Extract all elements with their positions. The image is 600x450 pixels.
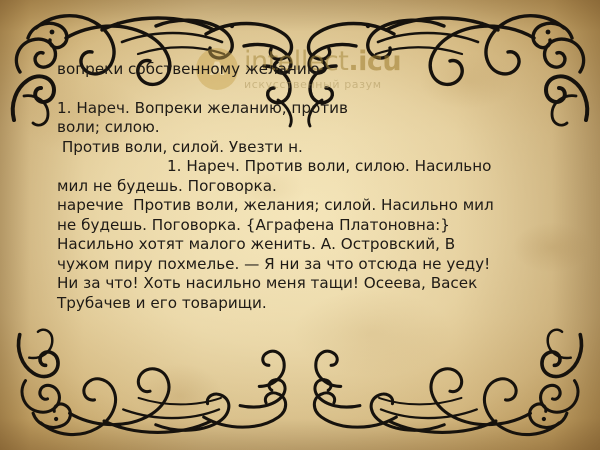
spacer xyxy=(57,80,527,99)
text-line-10: Ни за что! Хоть насильно меня тащи! Осее… xyxy=(57,274,527,294)
text-line-6: наречие Против воли, желания; силой. Нас… xyxy=(57,196,527,216)
text-line-5: мил не будешь. Поговорка. xyxy=(57,177,527,197)
article-text: вопреки собственному желанию 1. Нареч. В… xyxy=(57,60,527,313)
parchment-page: A intellect.icu искусственный разум вопр… xyxy=(0,0,600,450)
text-line-9: чужом пиру похмелье. — Я ни за что отсюд… xyxy=(57,255,527,275)
text-line-2: воли; силою. xyxy=(57,118,527,138)
text-line-11: Трубачев и его товарищи. xyxy=(57,294,527,314)
page-title: вопреки собственному желанию xyxy=(57,60,527,80)
ornament-bottom-right xyxy=(304,327,594,442)
text-line-1: 1. Нареч. Вопреки желанию, против xyxy=(57,99,527,119)
text-line-4: 1. Нареч. Против воли, силою. Насильно xyxy=(57,157,527,177)
text-line-7: не будешь. Поговорка. {Аграфена Платонов… xyxy=(57,216,527,236)
text-line-8: Насильно хотят малого женить. А. Островс… xyxy=(57,235,527,255)
text-line-3: Против воли, силой. Увезти н. xyxy=(57,138,527,158)
ornament-bottom-left xyxy=(6,327,296,442)
